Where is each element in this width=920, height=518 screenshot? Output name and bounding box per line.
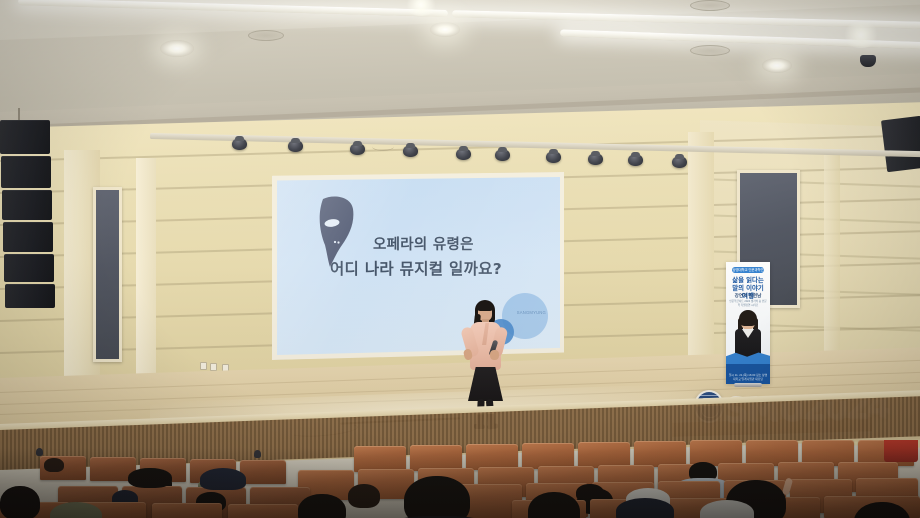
right-speaker-cabinet xyxy=(881,116,920,172)
auditorium-photo: 오페라의 유령은 어디 나라 뮤지컬 일까요? SANGMYUNG 상명대학교 … xyxy=(0,0,920,518)
speaker-cabinet xyxy=(1,156,51,188)
spotlight-cable xyxy=(372,142,394,151)
stage-spotlight-icon xyxy=(456,148,471,160)
wall-socket-icon[interactable] xyxy=(210,363,217,371)
ceiling-vent-icon xyxy=(690,45,730,56)
audience-seating-area xyxy=(0,440,920,518)
light-glow xyxy=(842,22,880,48)
slide-logo-text: SANGMYUNG xyxy=(517,310,546,315)
recessed-downlight-icon xyxy=(160,40,194,57)
presenter-skirt xyxy=(468,367,503,401)
projected-slide: 오페라의 유령은 어디 나라 뮤지컬 일까요? SANGMYUNG xyxy=(277,177,560,355)
speaker-cabinet xyxy=(3,222,53,252)
audience-red-jacket xyxy=(884,440,918,462)
audience-cap xyxy=(200,468,246,490)
auditorium-seat[interactable] xyxy=(228,504,298,518)
stage-spotlight-icon xyxy=(232,138,247,150)
auditorium-seat[interactable] xyxy=(240,460,286,484)
stage-spotlight-icon xyxy=(628,154,643,166)
speaker-cabinet xyxy=(5,284,55,308)
stage-spotlight-icon xyxy=(495,149,510,161)
recessed-downlight-icon xyxy=(430,22,460,37)
audience-head xyxy=(0,486,40,518)
stage-spotlight-icon xyxy=(588,153,603,165)
ceiling-vent-icon xyxy=(248,30,284,41)
audience-head xyxy=(298,494,346,518)
rollup-banner: 상명대학교 인문과학연구소 삶을 읽다는 말의 이야기 여행 강연자 김현남 인… xyxy=(726,262,770,384)
stage-spotlight-icon xyxy=(288,140,303,152)
audience-head xyxy=(404,476,470,518)
speaker-cabinet xyxy=(4,254,54,282)
ceiling-camera-icon xyxy=(860,55,876,67)
slide-headline-line-1: 오페라의 유령은 xyxy=(373,233,474,254)
audience-head xyxy=(44,458,64,472)
stage-spotlight-icon xyxy=(403,145,418,157)
stage-spotlight-icon xyxy=(546,151,561,163)
banner-speaker-name: 강연자 김현남 xyxy=(729,293,767,299)
banner-top-pill-text: 상명대학교 인문과학연구소 xyxy=(732,267,764,273)
recessed-downlight-icon xyxy=(762,58,792,73)
speaker-cabinet xyxy=(2,190,52,220)
acoustic-wall-panel xyxy=(93,187,122,362)
ceiling-vent-icon xyxy=(690,0,730,11)
audience-cap xyxy=(616,498,674,518)
presenter-hair-front xyxy=(477,302,493,311)
banner-subtext: 인문학콘서트 2024 생각의 숲 인문학 특별강연 시리즈 xyxy=(729,300,767,307)
audience-head xyxy=(128,468,172,488)
stage-spotlight-icon xyxy=(350,143,365,155)
stage-spotlight-icon xyxy=(672,156,687,168)
wall-socket-icon[interactable] xyxy=(200,362,207,370)
auditorium-seat[interactable] xyxy=(152,503,222,518)
line-array-speaker-stack xyxy=(0,120,52,300)
slide-headline-line-2: 어디 나라 뮤지컬 일까요? xyxy=(330,257,502,279)
audience-head xyxy=(348,484,380,508)
presenter-right-hand xyxy=(490,350,499,360)
banner-footer-text: 일시 11. 21.(목) 16:00 장소 상명대학교 밀레니엄관 대강당 xyxy=(728,373,768,381)
speaker-cabinet xyxy=(0,120,50,154)
banner-photo-hair xyxy=(739,310,757,326)
